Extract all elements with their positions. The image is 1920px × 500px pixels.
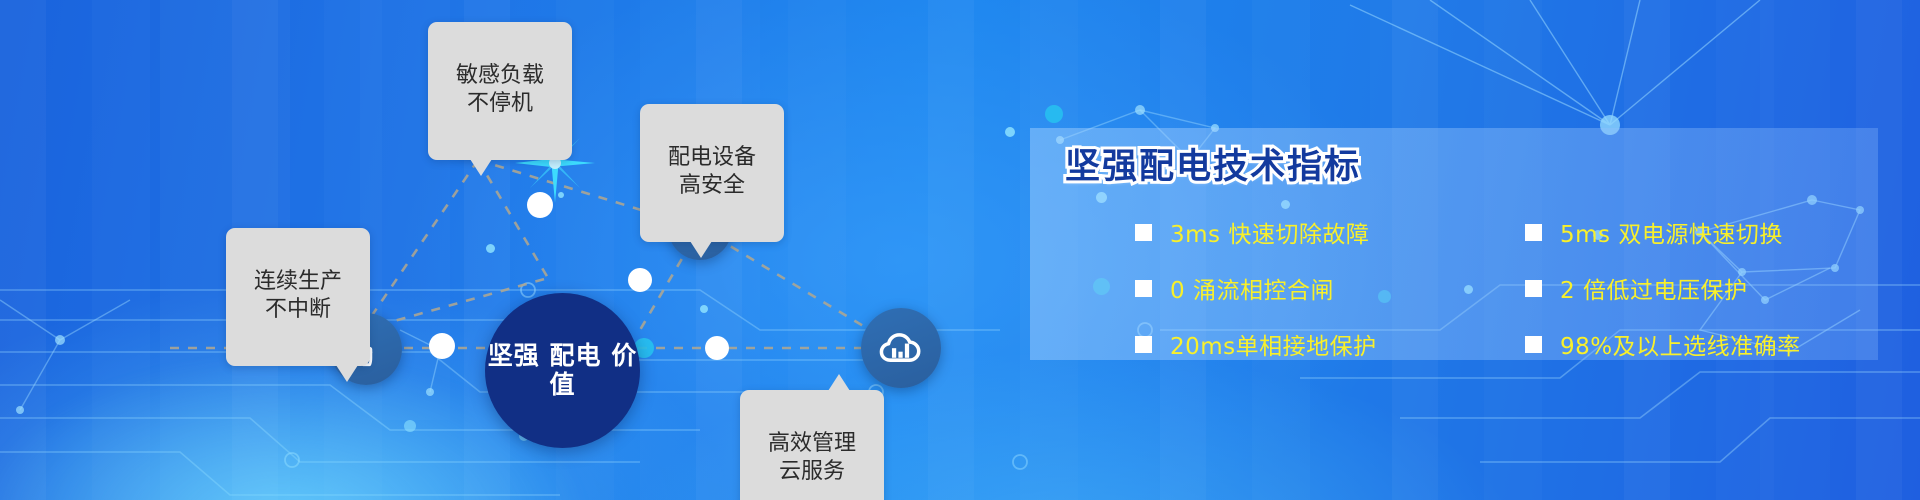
- connector-node-dot: [429, 333, 455, 359]
- cloud-node-callout-label: 高效管理 云服务: [768, 431, 856, 484]
- shield-node-callout: 配电设备 高安全: [640, 104, 784, 242]
- touch-node-callout: 连续生产 不中断: [226, 228, 370, 366]
- power-node-callout: 敏感负载 不停机: [428, 22, 572, 160]
- accent-dot: [404, 420, 416, 432]
- connector-node-dot: [628, 268, 652, 292]
- shield-node-callout-label: 配电设备 高安全: [668, 145, 756, 198]
- spec-label: 0 涌流相控合闸: [1170, 271, 1334, 305]
- cloud-chart-icon: [877, 324, 925, 372]
- banner-stage: 坚强 配电 价值 敏感负载 不停机 配电设备 高安全: [0, 0, 1920, 500]
- hub-circle[interactable]: 坚强 配电 价值: [485, 293, 640, 448]
- spec-item[interactable]: 2 倍低过电压保护: [1525, 271, 1875, 305]
- spec-item[interactable]: 20ms单相接地保护: [1135, 327, 1485, 361]
- callout-tail: [690, 241, 712, 258]
- touch-node-callout-label: 连续生产 不中断: [254, 269, 342, 322]
- bullet-square-icon: [1525, 280, 1542, 297]
- cloud-node[interactable]: [861, 308, 941, 388]
- callout-tail: [336, 365, 358, 382]
- callout-tail: [470, 159, 492, 176]
- accent-dot: [1045, 105, 1063, 123]
- bullet-square-icon: [1135, 280, 1152, 297]
- accent-dot: [486, 244, 495, 253]
- spec-label: 3ms 快速切除故障: [1170, 215, 1369, 249]
- spec-label: 98%及以上选线准确率: [1560, 327, 1801, 361]
- accent-dot: [558, 192, 564, 198]
- spec-list: 3ms 快速切除故障 5ms 双电源快速切换 0 涌流相控合闸 2 倍低过电压保…: [1135, 215, 1875, 361]
- accent-dot: [700, 305, 708, 313]
- spec-label: 20ms单相接地保护: [1170, 327, 1377, 361]
- connector-node-dot: [705, 336, 729, 360]
- bullet-square-icon: [1135, 336, 1152, 353]
- bullet-square-icon: [1525, 224, 1542, 241]
- bullet-square-icon: [1135, 224, 1152, 241]
- spec-item[interactable]: 3ms 快速切除故障: [1135, 215, 1485, 249]
- cloud-node-callout: 高效管理 云服务: [740, 390, 884, 500]
- accent-dot: [1005, 127, 1015, 137]
- hub-label: 坚强 配电 价值: [485, 342, 640, 399]
- spec-item[interactable]: 98%及以上选线准确率: [1525, 327, 1875, 361]
- spec-label: 2 倍低过电压保护: [1560, 271, 1747, 305]
- bullet-square-icon: [1525, 336, 1542, 353]
- callout-tail: [828, 374, 850, 391]
- connector-node-dot: [527, 192, 553, 218]
- power-node-callout-label: 敏感负载 不停机: [456, 63, 544, 116]
- spec-item[interactable]: 0 涌流相控合闸: [1135, 271, 1485, 305]
- spec-panel-title: 坚强配电技术指标: [1065, 138, 1361, 189]
- spec-label: 5ms 双电源快速切换: [1560, 215, 1783, 249]
- spec-item[interactable]: 5ms 双电源快速切换: [1525, 215, 1875, 249]
